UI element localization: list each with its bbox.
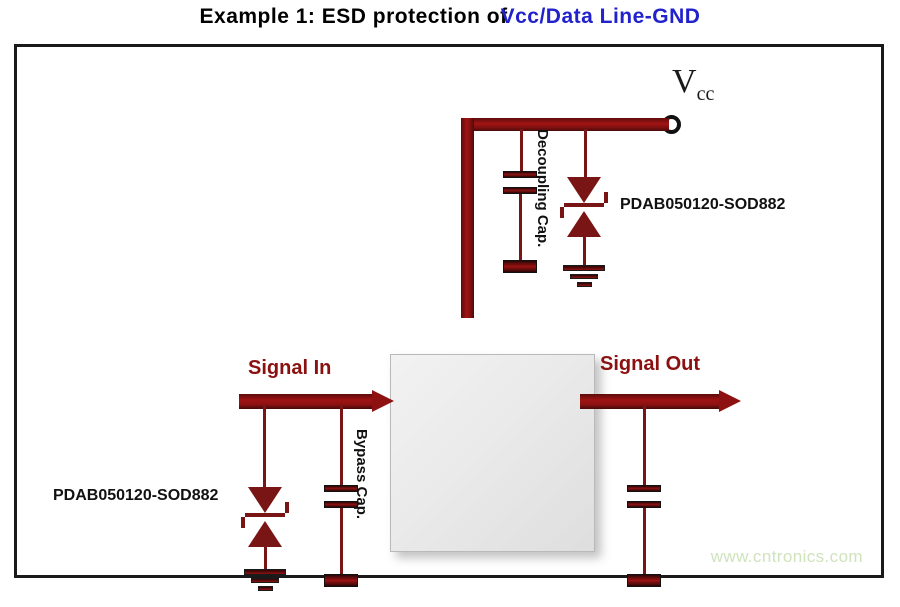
signal-in-arrow-shaft <box>239 394 372 409</box>
page-title: Example 1: ESD protection ofVcc/Data Lin… <box>0 0 900 40</box>
tvs-zener-tick-left <box>241 517 245 528</box>
tvs-zener-tick-left <box>560 207 564 218</box>
capacitor-lead-bottom <box>340 508 343 574</box>
tvs-triangle-upper <box>567 177 601 203</box>
tvs-top-wire <box>584 129 587 181</box>
capacitor-terminal-pad <box>503 260 537 273</box>
tvs-zener-tick-right <box>285 502 289 513</box>
ground-bar-3 <box>577 282 592 287</box>
signal-out-label: Signal Out <box>600 353 700 376</box>
tvs-lead-bottom <box>264 547 267 569</box>
decoupling-cap-wire <box>520 129 523 173</box>
ground-bar-1 <box>244 569 286 575</box>
output-capacitor <box>627 485 661 587</box>
page-title-part-2: Vcc/Data Line-GND <box>501 5 701 28</box>
capacitor-plate-top <box>503 171 537 178</box>
vcc-label: Vcc <box>672 63 714 106</box>
capacitor-plate-bottom <box>627 501 661 508</box>
ground-bar-1 <box>563 265 605 271</box>
output-cap-wire <box>643 405 646 487</box>
signal-out-arrow-shaft <box>580 394 719 409</box>
tvs-cathode-bar <box>564 203 604 207</box>
tvs-triangle-upper <box>248 487 282 513</box>
ground-bar-2 <box>251 578 279 583</box>
circuit-diagram-frame: Vcc Decoupling Cap. PDAB050120-SOD882 Si… <box>14 44 884 578</box>
capacitor-terminal-pad <box>627 574 661 587</box>
capacitor-plate-bottom <box>503 187 537 194</box>
bypass-cap-wire <box>340 405 343 487</box>
tvs-lead-bottom <box>583 237 586 265</box>
ground-bar-2 <box>570 274 598 279</box>
capacitor-terminal-pad <box>324 574 358 587</box>
vcc-bus-horizontal <box>461 118 669 131</box>
tvs-top-part-label: PDAB050120-SOD882 <box>620 196 785 214</box>
tvs-triangle-lower <box>248 521 282 547</box>
ic-device-block <box>390 354 595 552</box>
tvs-cathode-bar <box>245 513 285 517</box>
page-title-part-1: Example 1: ESD protection of <box>200 5 508 28</box>
bypass-cap-label: Bypass Cap. <box>353 429 370 519</box>
signal-in-label: Signal In <box>248 357 331 380</box>
capacitor-lead-bottom <box>519 194 522 260</box>
decoupling-cap-label: Decoupling Cap. <box>534 129 551 247</box>
capacitor-plate-top <box>627 485 661 492</box>
signal-out-arrow <box>580 390 741 412</box>
vcc-label-sub: cc <box>697 83 715 105</box>
capacitor-lead-bottom <box>643 508 646 574</box>
watermark-text: www.cntronics.com <box>711 547 863 567</box>
tvs-diode-top <box>552 177 616 297</box>
tvs-triangle-lower <box>567 211 601 237</box>
tvs-left-wire <box>263 405 266 490</box>
tvs-left-part-label: PDAB050120-SOD882 <box>53 487 218 505</box>
vcc-label-v: V <box>672 63 697 100</box>
signal-out-arrow-head <box>719 390 741 412</box>
vcc-bus-vertical <box>461 118 474 318</box>
decoupling-capacitor <box>503 171 537 273</box>
tvs-zener-tick-right <box>604 192 608 203</box>
signal-in-arrow-head <box>372 390 394 412</box>
